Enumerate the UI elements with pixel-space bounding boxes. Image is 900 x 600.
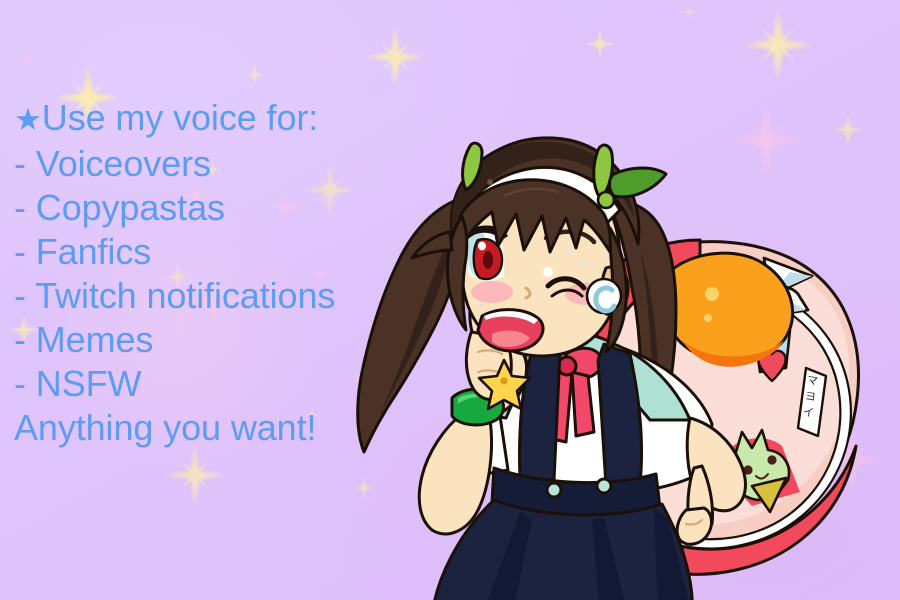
copy-line-text: - NSFW [14, 363, 141, 404]
copy-line-item-4: - Twitch notifications [14, 274, 335, 318]
leaf-right-outer [610, 168, 667, 197]
waistband-button-left [547, 483, 561, 497]
snail-shell [663, 253, 793, 360]
pupil [483, 251, 493, 269]
mouth-open-smile [478, 310, 543, 351]
copy-line-text: - Copypastas [14, 187, 225, 228]
copy-line-item-5: - Memes [14, 318, 335, 362]
snail-shell-highlight [705, 287, 719, 301]
copy-line-text: Anything you want! [14, 407, 316, 448]
copy-line-text: - Twitch notifications [14, 275, 335, 316]
bunny-eye-right [767, 455, 776, 464]
hair-spiral-ornament [587, 279, 621, 313]
svg-text:イ: イ [802, 405, 815, 419]
copy-line-text: - Fanfics [14, 231, 151, 272]
blush-left [471, 281, 513, 303]
eye-highlight [478, 242, 486, 251]
banner-canvas: マ ヨ イ [0, 0, 900, 600]
promo-text-block: ★Use my voice for:- Voiceovers- Copypast… [14, 96, 335, 450]
hair-dot-3 [487, 179, 493, 185]
copy-line-item-2: - Copypastas [14, 186, 335, 230]
twintail-tie-right [598, 192, 614, 208]
hair-dot-1 [567, 247, 573, 253]
copy-line-text: - Voiceovers [14, 143, 211, 184]
copy-line-text: - Memes [14, 319, 153, 360]
waistband-button-right [597, 479, 611, 493]
wink-sparkle [543, 267, 553, 277]
backpack-tag-text: マ [806, 373, 819, 387]
copy-line-text: Use my voice for: [42, 97, 318, 138]
svg-text:ヨ: ヨ [804, 389, 817, 403]
copy-line-item-3: - Fanfics [14, 230, 335, 274]
copy-line-item-6: - NSFW [14, 362, 335, 406]
copy-line-closing: Anything you want! [14, 406, 335, 450]
star-icon: ★ [14, 102, 42, 137]
hair-dot-2 [580, 260, 585, 265]
copy-line-heading: ★Use my voice for: [14, 96, 335, 142]
copy-line-item-1: - Voiceovers [14, 142, 335, 186]
